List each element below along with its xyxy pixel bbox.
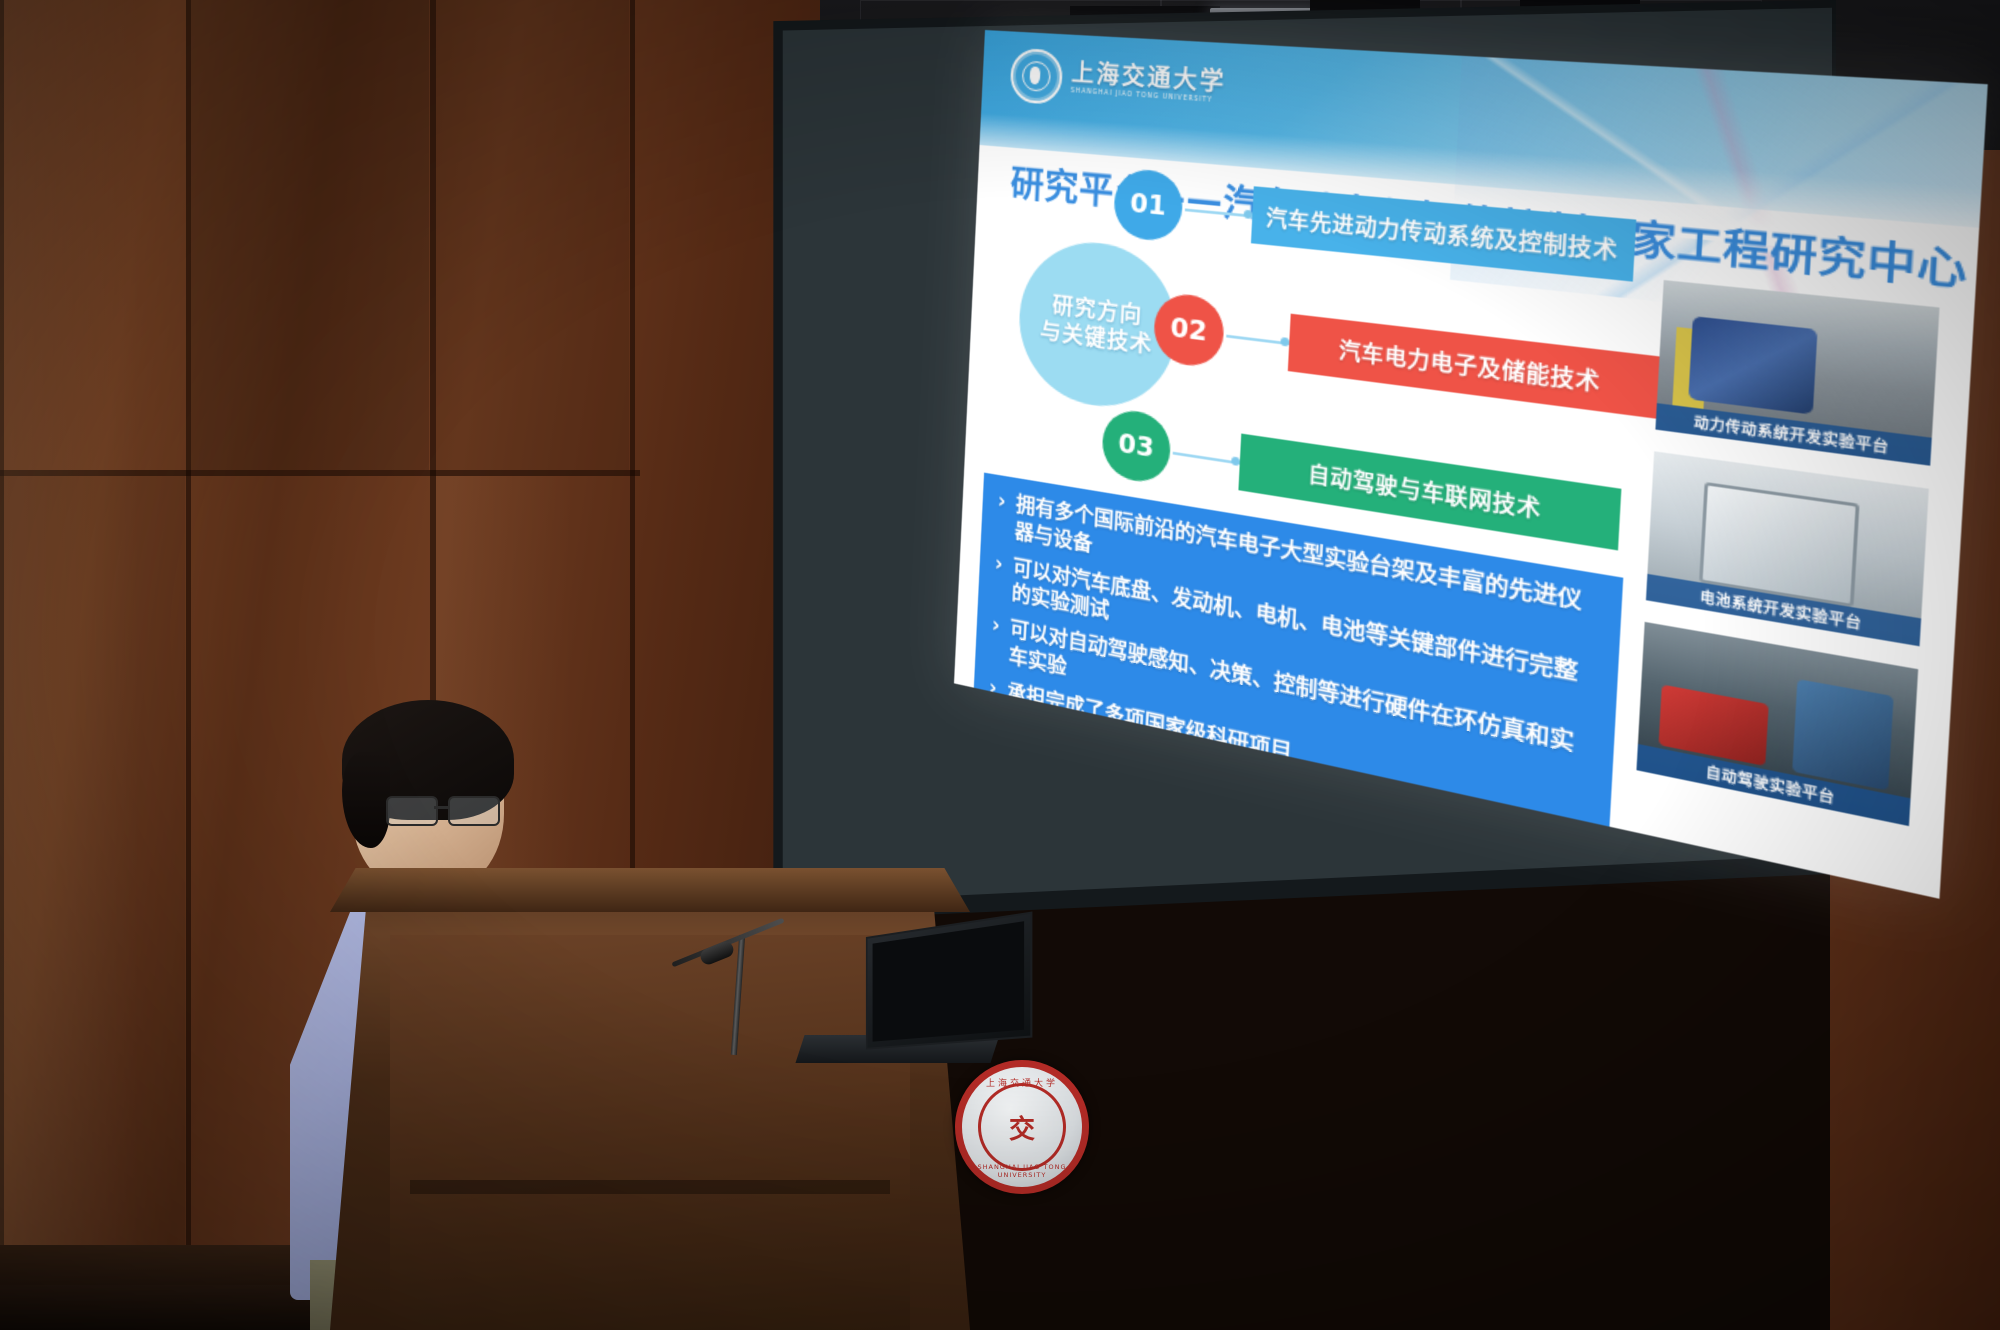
chevron-right-icon: › [996, 488, 1006, 542]
laptop-screen [873, 921, 1025, 1041]
seal-center-glyph: 交 [978, 1083, 1066, 1171]
sjtu-seal-icon [1009, 48, 1063, 106]
projected-slide: 上海交通大学 SHANGHAI JIAO TONG UNIVERSITY 研究平… [930, 30, 1988, 1330]
chevron-right-icon: › [993, 551, 1003, 605]
chevron-right-icon: › [988, 675, 997, 703]
glasses-icon [386, 796, 502, 822]
laptop-icon[interactable] [866, 912, 1032, 1050]
direction-node-03: 03 [1101, 407, 1172, 486]
connector-line [1173, 452, 1240, 465]
seal-bottom-text: SHANGHAI JIAO TONG UNIVERSITY [962, 1163, 1082, 1179]
podium-top-surface [330, 868, 970, 912]
presentation-room-photo: 上海交通大学 SHANGHAI JIAO TONG UNIVERSITY 研究平… [0, 0, 2000, 1330]
podium-university-seal: 上海交通大学 交 SHANGHAI JIAO TONG UNIVERSITY [955, 1060, 1089, 1194]
presenter-hair-side [342, 752, 390, 848]
podium-front-panel [390, 935, 910, 1330]
lab-photo: 电池系统开发实验平台 [1646, 451, 1929, 646]
chevron-right-icon: › [990, 613, 1000, 667]
lab-photo: 动力传动系统开发实验平台 [1655, 280, 1939, 466]
lab-photo: 自动驾驶实验平台 [1636, 622, 1918, 826]
direction-label-02: 汽车电力电子及储能技术 [1288, 314, 1660, 419]
podium-trim [410, 1180, 890, 1194]
